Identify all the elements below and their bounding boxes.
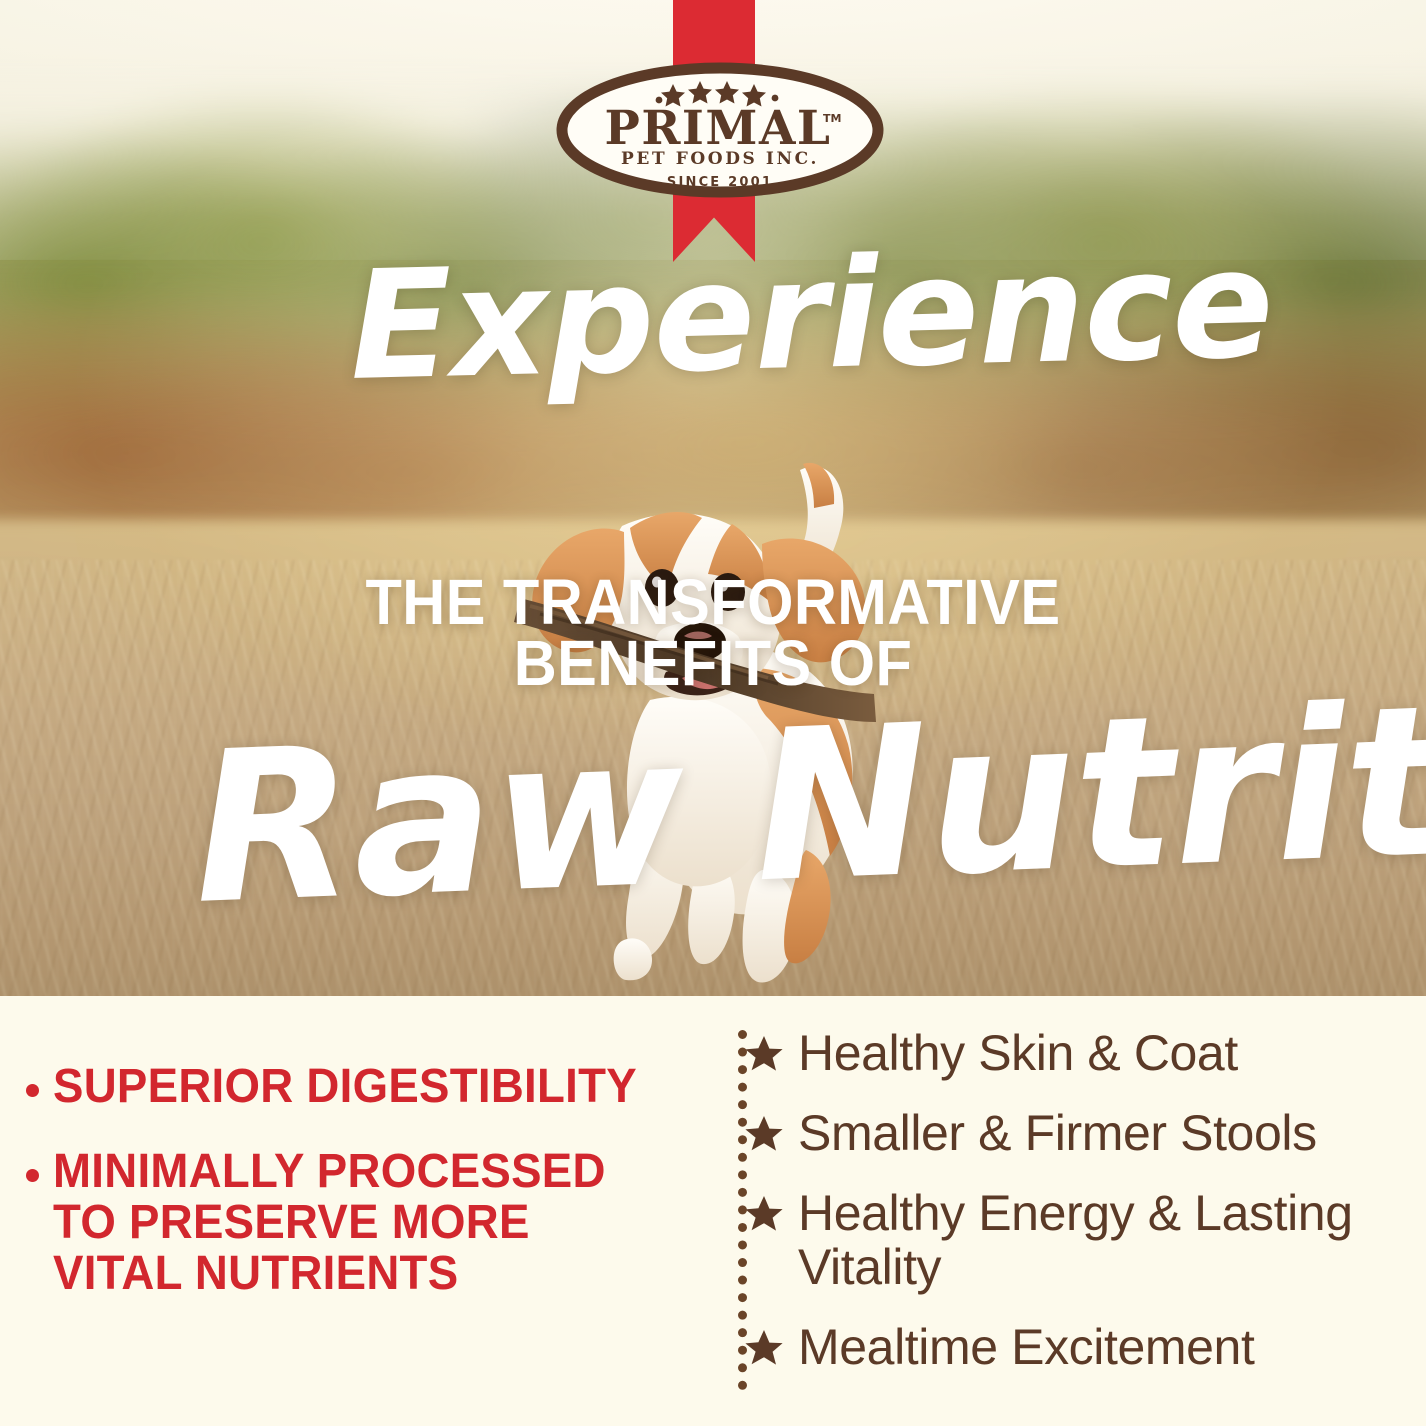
star-icon xyxy=(744,1328,784,1368)
column-divider xyxy=(738,1030,747,1390)
logo-wordmark: PRIMAL xyxy=(605,101,832,156)
benefit-list-item: Smaller & Firmer Stools xyxy=(744,1106,1402,1160)
benefit-list-item: MINIMALLY PROCESSED TO PRESERVE MORE VIT… xyxy=(26,1147,674,1300)
logo-subtitle: PET FOODS INC. xyxy=(621,149,819,169)
benefits-panel: SUPERIOR DIGESTIBILITY MINIMALLY PROCESS… xyxy=(0,996,1426,1426)
benefit-label: Mealtime Excitement xyxy=(798,1320,1254,1374)
bullet-dot-icon xyxy=(26,1084,39,1097)
hero-script-headline-bottom: Raw Nutrition xyxy=(190,664,1426,934)
benefit-label: MINIMALLY PROCESSED TO PRESERVE MORE VIT… xyxy=(53,1147,643,1300)
benefit-list-item: SUPERIOR DIGESTIBILITY xyxy=(26,1062,674,1113)
promotional-poster: PRIMAL TM PET FOODS INC. SINCE 2001 Expe… xyxy=(0,0,1426,1426)
star-icon xyxy=(744,1194,784,1234)
benefit-label: Healthy Energy & Lasting Vitality xyxy=(798,1186,1402,1294)
logo-trademark: TM xyxy=(823,112,841,125)
benefit-list-item: Healthy Skin & Coat xyxy=(744,1026,1402,1080)
hero-photo: PRIMAL TM PET FOODS INC. SINCE 2001 Expe… xyxy=(0,0,1426,996)
benefit-label: Smaller & Firmer Stools xyxy=(798,1106,1317,1160)
star-icon xyxy=(744,1114,784,1154)
star-icon xyxy=(744,1034,784,1074)
bullet-dot-icon xyxy=(26,1169,39,1182)
hero-script-headline-top: Experience xyxy=(348,229,1274,402)
hero-subheadline-line-1: THE TRANSFORMATIVE xyxy=(50,572,1376,633)
primal-logo: PRIMAL TM PET FOODS INC. SINCE 2001 xyxy=(555,60,885,200)
benefits-left-column: SUPERIOR DIGESTIBILITY MINIMALLY PROCESS… xyxy=(0,996,700,1426)
benefit-list-item: Healthy Energy & Lasting Vitality xyxy=(744,1186,1402,1294)
benefit-label: Healthy Skin & Coat xyxy=(798,1026,1238,1080)
benefit-label: SUPERIOR DIGESTIBILITY xyxy=(53,1062,637,1113)
benefits-right-column: Healthy Skin & Coat Smaller & Firmer Sto… xyxy=(700,996,1426,1426)
logo-since: SINCE 2001 xyxy=(667,175,773,190)
benefit-list-item: Mealtime Excitement xyxy=(744,1320,1402,1374)
